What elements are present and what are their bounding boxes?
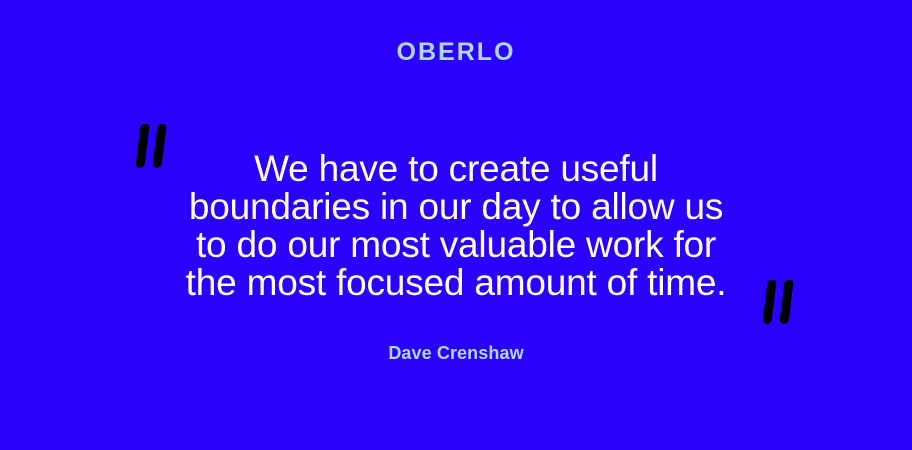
brand-logo: OBERLO <box>0 38 912 66</box>
quote-card: OBERLO We have to create useful boundari… <box>0 0 912 450</box>
quote-text: We have to create useful boundaries in o… <box>106 150 806 302</box>
quote-line-1: We have to create useful <box>106 150 806 188</box>
close-quote-mark-icon <box>761 280 797 328</box>
close-quote-bar-left <box>762 280 776 324</box>
quote-line-3: to do our most valuable work for <box>106 226 806 264</box>
quote-line-4: the most focused amount of time. <box>106 264 806 302</box>
quote-author: Dave Crenshaw <box>0 342 912 364</box>
close-quote-bar-right <box>779 280 793 324</box>
quote-line-2: boundaries in our day to allow us <box>106 188 806 226</box>
